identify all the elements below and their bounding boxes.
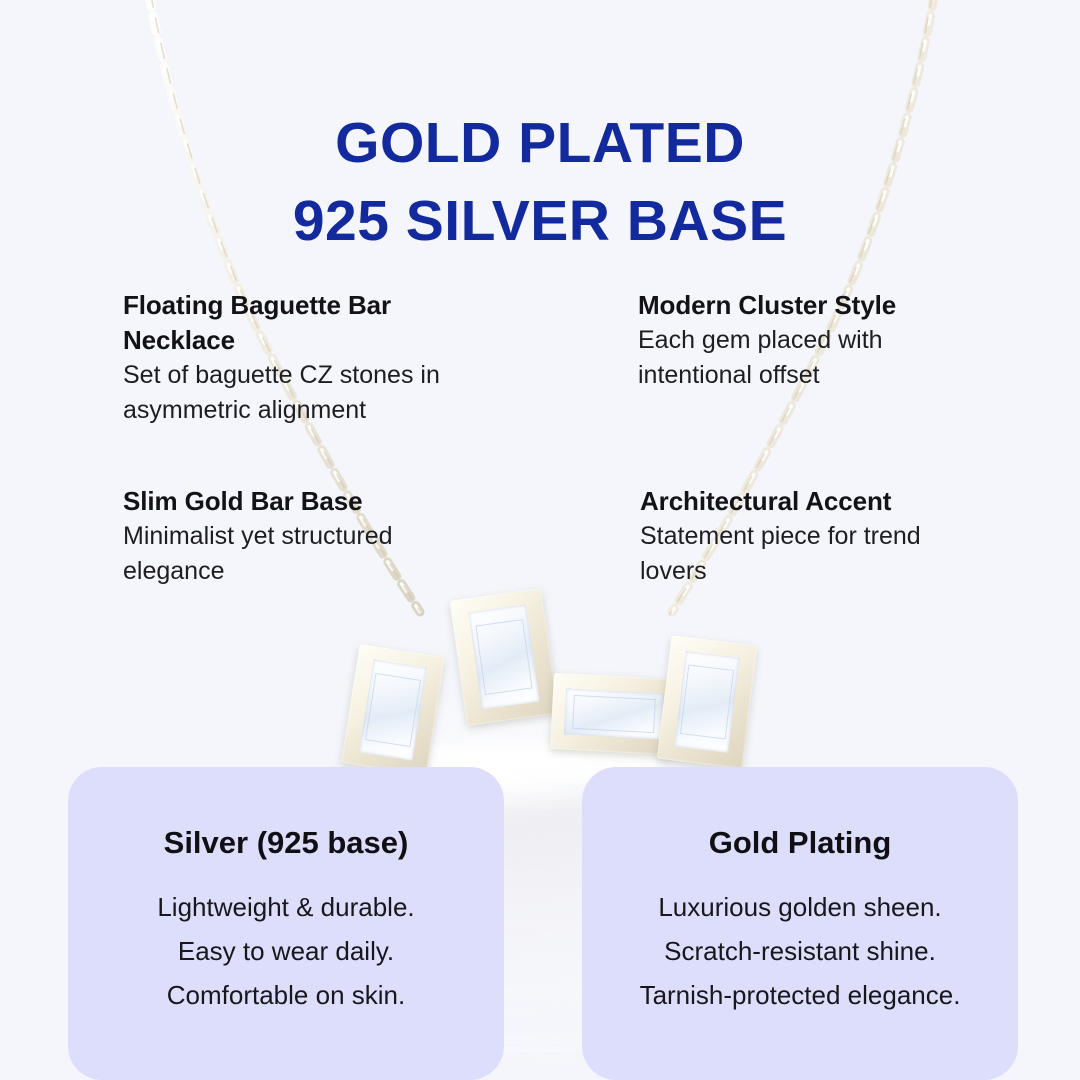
card-silver-title: Silver (925 base) [94, 823, 478, 863]
feature-item-4: Architectural Accent Statement piece for… [640, 484, 990, 589]
feature-list: Floating Baguette Bar Necklace Set of ba… [0, 288, 1080, 608]
feature-2-desc: Each gem placed with intentional offset [638, 323, 973, 393]
feature-4-title: Architectural Accent [640, 484, 990, 519]
cz-gem-4 [674, 651, 739, 753]
baguette-stone-1 [341, 644, 445, 776]
card-gold-title: Gold Plating [608, 823, 992, 863]
title-line-2: 925 SILVER BASE [0, 182, 1080, 260]
feature-2-title: Modern Cluster Style [638, 288, 988, 323]
feature-1-desc: Set of baguette CZ stones in asymmetric … [123, 358, 458, 428]
card-silver-body: Lightweight & durable.Easy to wear daily… [94, 885, 478, 1017]
page-title: GOLD PLATED 925 SILVER BASE [0, 104, 1080, 260]
poster-canvas: GOLD PLATED 925 SILVER BASE Floating Bag… [0, 0, 1080, 1080]
cz-gem-2 [468, 604, 539, 709]
card-gold-body: Luxurious golden sheen.Scratch-resistant… [608, 885, 992, 1017]
feature-1-title: Floating Baguette Bar Necklace [123, 288, 473, 358]
title-line-1: GOLD PLATED [0, 104, 1080, 182]
baguette-stone-3 [550, 673, 678, 755]
feature-item-2: Modern Cluster Style Each gem placed wit… [638, 288, 988, 393]
cz-gem-1 [359, 659, 427, 760]
card-gold-plating: Gold Plating Luxurious golden sheen.Scra… [582, 767, 1018, 1080]
baguette-stone-cluster [340, 590, 740, 780]
feature-3-title: Slim Gold Bar Base [123, 484, 473, 519]
feature-item-3: Slim Gold Bar Base Minimalist yet struct… [123, 484, 493, 589]
cz-gem-3 [564, 688, 664, 739]
material-cards: Silver (925 base) Lightweight & durable.… [68, 767, 1018, 1080]
card-silver: Silver (925 base) Lightweight & durable.… [68, 767, 504, 1080]
feature-item-1: Floating Baguette Bar Necklace Set of ba… [123, 288, 493, 428]
feature-4-desc: Statement piece for trend lovers [640, 519, 975, 589]
baguette-stone-2 [450, 588, 559, 726]
baguette-stone-4 [657, 635, 757, 769]
feature-3-desc: Minimalist yet structured elegance [123, 519, 458, 589]
